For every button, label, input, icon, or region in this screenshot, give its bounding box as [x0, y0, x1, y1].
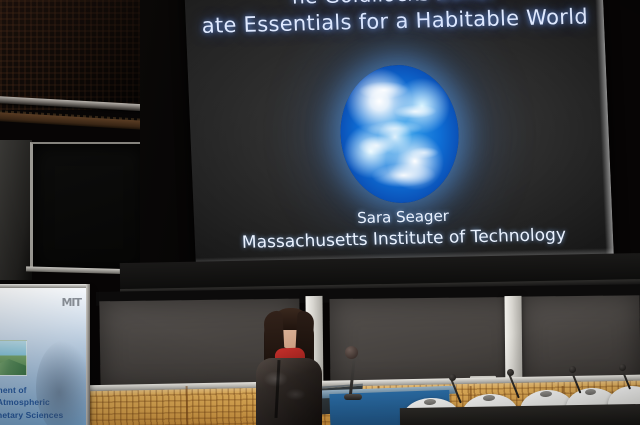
earth-globe-image [338, 64, 462, 205]
slide-credit: Sara Seager Massachusetts Institute of T… [194, 203, 614, 254]
projection-screen: he Goldilocks Zone: ate Essentials for a… [183, 0, 614, 268]
speaker-figure [248, 306, 330, 425]
banner-landscape-graphic [0, 340, 27, 376]
left-dark-window [30, 142, 145, 271]
hill-graphic [0, 359, 26, 375]
podium-microphone-base [344, 394, 362, 400]
photograph-scene: he Goldilocks Zone: ate Essentials for a… [0, 0, 640, 425]
desk-microphone-head [619, 364, 626, 371]
earth-globe-graphic [338, 64, 462, 205]
desk-microphone-head [449, 374, 456, 381]
left-wall [0, 140, 32, 280]
banner-support-pole [86, 284, 90, 425]
podium-microphone-head [345, 346, 358, 359]
desk-microphone-head [507, 369, 514, 376]
speaker-leather-jacket [256, 358, 322, 425]
mit-logo: MIT [61, 296, 81, 309]
presentation-slide: he Goldilocks Zone: ate Essentials for a… [183, 0, 614, 268]
front-desk-surface [400, 404, 640, 425]
slide-title: he Goldilocks Zone: ate Essentials for a… [184, 0, 604, 39]
banner-shadow [36, 340, 88, 425]
desk-microphone-head [569, 366, 576, 373]
mit-department-banner: MIT artment of th, Atmospheric Planetary… [0, 288, 88, 425]
